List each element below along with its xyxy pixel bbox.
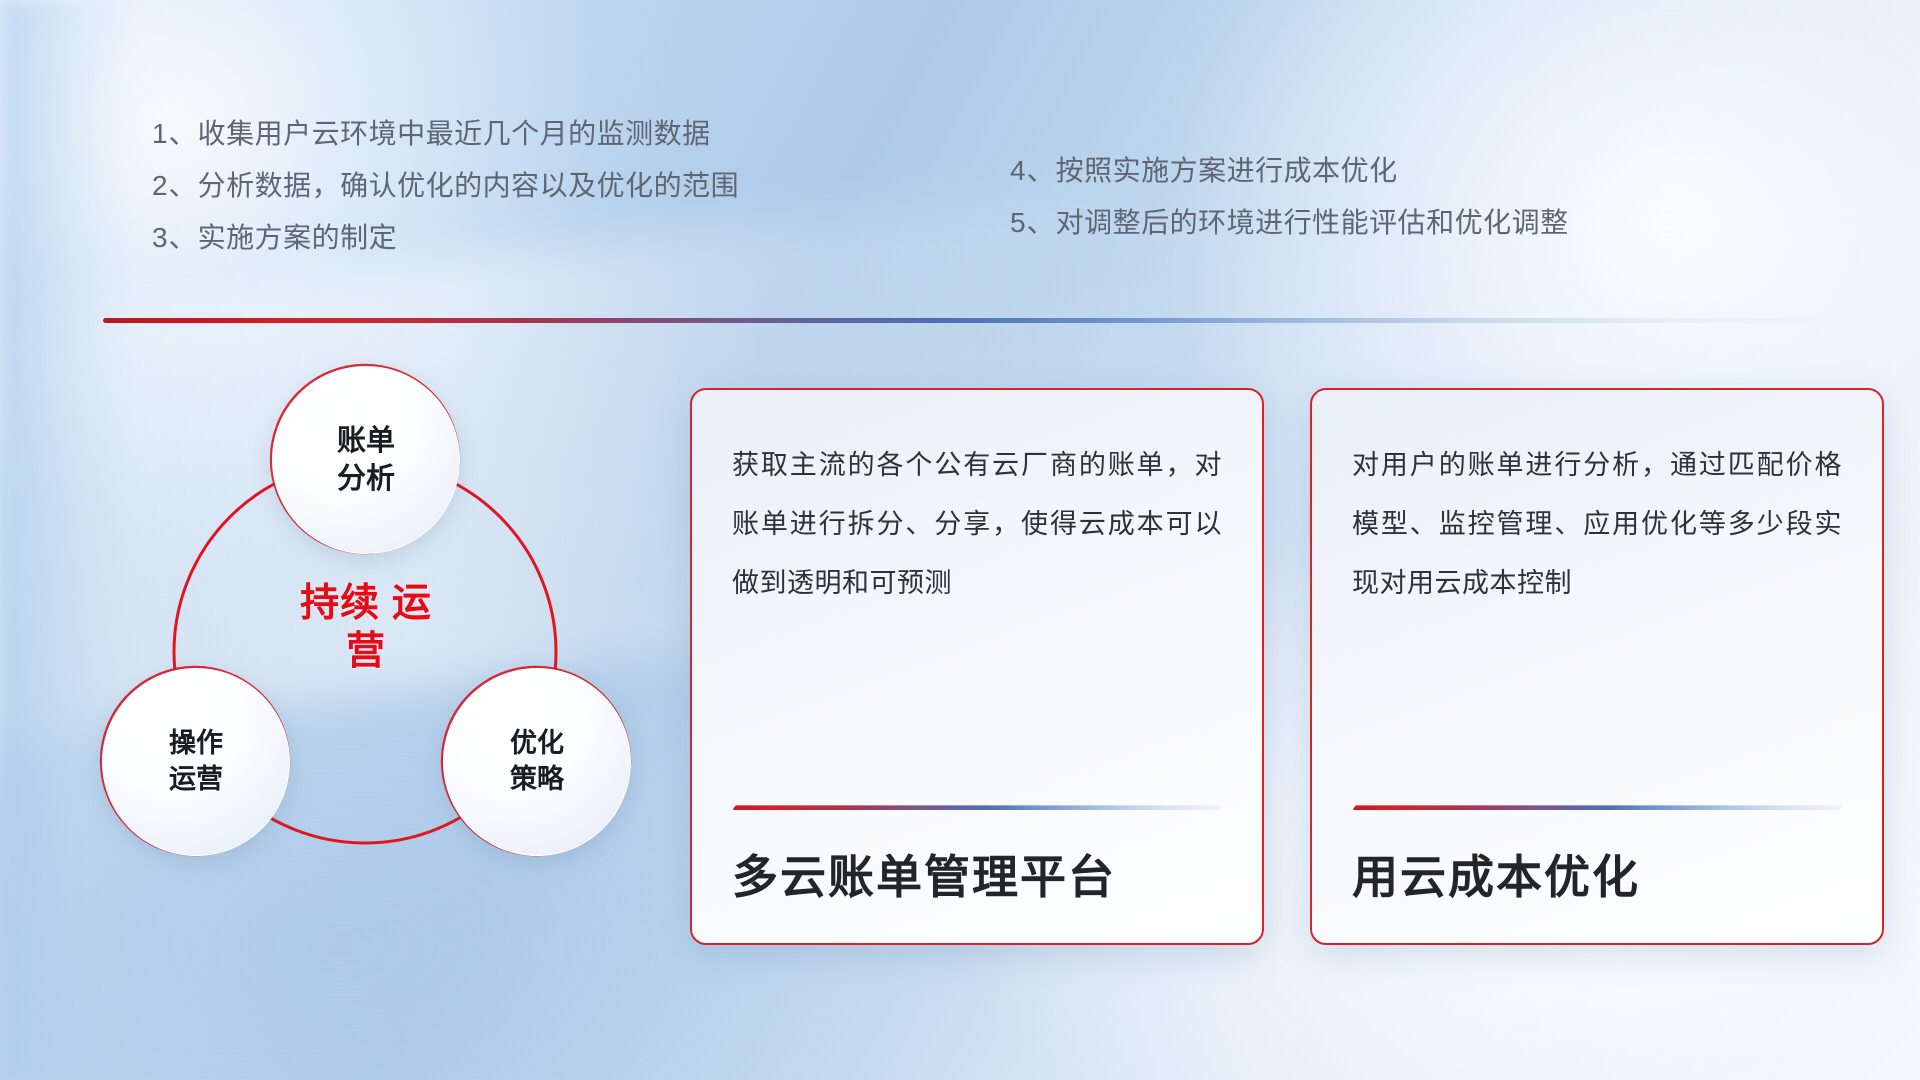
process-step-3-number: 3、 [152,222,198,253]
process-step-5: 5、对调整后的环境进行性能评估和优化调整 [1010,209,1569,237]
process-step-1: 1、收集用户云环境中最近几个月的监测数据 [152,120,739,148]
process-step-2: 2、分析数据，确认优化的内容以及优化的范围 [152,172,739,200]
card-2-divider [1352,805,1842,810]
process-step-4-text: 按照实施方案进行成本优化 [1056,155,1398,186]
process-steps-left: 1、收集用户云环境中最近几个月的监测数据 2、分析数据，确认优化的内容以及优化的… [152,120,739,276]
process-step-5-number: 5、 [1010,207,1056,238]
process-step-1-number: 1、 [152,118,198,149]
process-step-3-text: 实施方案的制定 [198,222,398,253]
card-2-body: 对用户的账单进行分析，通过匹配价格模型、监控管理、应用优化等多少段实现对用云成本… [1352,436,1842,805]
card-multi-cloud-billing-platform[interactable]: 获取主流的各个公有云厂商的账单，对账单进行拆分、分享，使得云成本可以做到透明和可… [690,388,1264,945]
card-2-title: 用云成本优化 [1352,852,1842,903]
card-1-inner: 获取主流的各个公有云厂商的账单，对账单进行拆分、分享，使得云成本可以做到透明和可… [732,436,1222,909]
card-1-body: 获取主流的各个公有云厂商的账单，对账单进行拆分、分享，使得云成本可以做到透明和可… [732,436,1222,805]
bubble-operations-line2: 运营 [169,762,223,798]
bubble-billing-analysis-line2: 分析 [337,460,395,498]
process-step-4: 4、按照实施方案进行成本优化 [1010,157,1569,185]
continuous-operations-diagram: 账单 分析 操作 运营 优化 策略 持续 运营 [96,352,656,962]
process-step-3: 3、实施方案的制定 [152,224,739,252]
bubble-optimization-line2: 策略 [510,762,564,798]
process-step-2-text: 分析数据，确认优化的内容以及优化的范围 [198,170,740,201]
card-1-divider [732,805,1222,810]
slide-canvas: 1、收集用户云环境中最近几个月的监测数据 2、分析数据，确认优化的内容以及优化的… [0,0,1920,1080]
bubble-billing-analysis-line1: 账单 [337,422,395,460]
card-cloud-cost-optimization[interactable]: 对用户的账单进行分析，通过匹配价格模型、监控管理、应用优化等多少段实现对用云成本… [1310,388,1884,945]
process-step-5-text: 对调整后的环境进行性能评估和优化调整 [1056,207,1569,238]
card-2-inner: 对用户的账单进行分析，通过匹配价格模型、监控管理、应用优化等多少段实现对用云成本… [1352,436,1842,909]
process-step-1-text: 收集用户云环境中最近几个月的监测数据 [198,118,711,149]
card-1-title: 多云账单管理平台 [732,852,1222,903]
process-step-2-number: 2、 [152,170,198,201]
bubble-optimization-line1: 优化 [510,726,564,762]
diagram-center-line1: 持续 [300,582,380,625]
diagram-bubble-operations[interactable]: 操作 运营 [102,668,290,856]
section-divider-rule [103,318,1845,323]
diagram-center-label: 持续 运营 [292,580,440,675]
diagram-bubble-optimization-strategy[interactable]: 优化 策略 [443,668,631,856]
process-step-4-number: 4、 [1010,155,1056,186]
process-steps-right: 4、按照实施方案进行成本优化 5、对调整后的环境进行性能评估和优化调整 [1010,157,1569,261]
bubble-operations-line1: 操作 [169,726,223,762]
diagram-bubble-billing-analysis[interactable]: 账单 分析 [272,366,460,554]
